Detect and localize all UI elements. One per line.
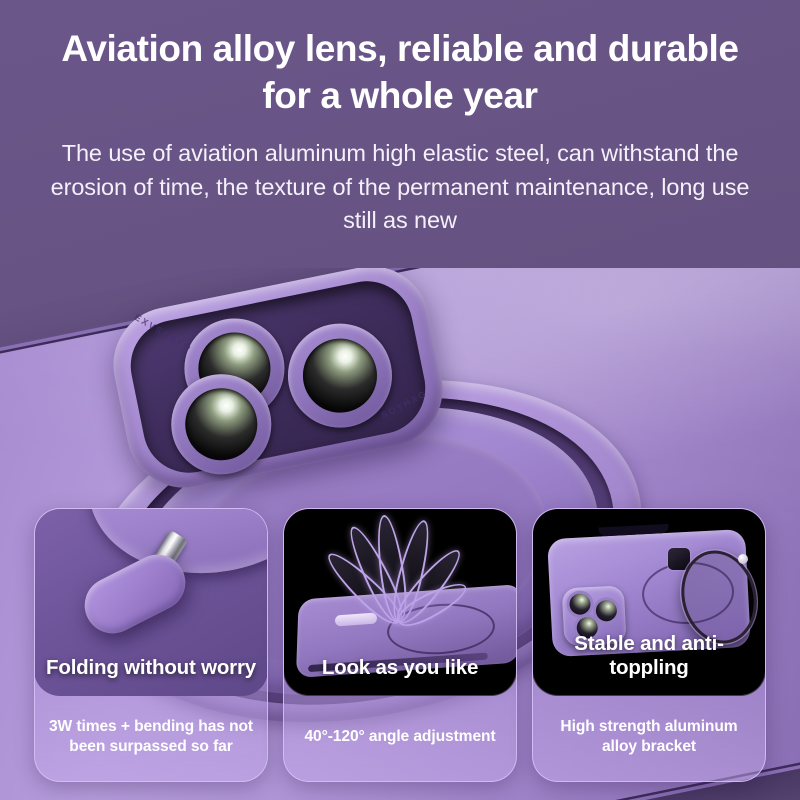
card-caption: 40°-120° angle adjustment [284,696,516,781]
page-title: Aviation alloy lens, reliable and durabl… [0,0,800,120]
page-subtitle: The use of aviation aluminum high elasti… [0,120,800,238]
feature-card-folding[interactable]: Folding without worry 3W times + bending… [34,508,268,782]
card-caption: 3W times + bending has not been surpasse… [35,696,267,781]
camera-lens-icon [595,600,617,622]
phone-top-edge [599,524,669,537]
card-title: Folding without worry [34,656,268,680]
promo-banner: Aviation alloy lens, reliable and durabl… [0,0,800,800]
card-media-angle: Look as you like [283,508,517,696]
card-title: Look as you like [283,656,517,680]
card-caption: High strength aluminum alloy bracket [533,696,765,781]
card-media-folding: Folding without worry [34,508,268,696]
card-title: Stable and anti-toppling [532,632,766,680]
feature-card-stable[interactable]: Stable and anti-toppling High strength a… [532,508,766,782]
card-media-stable: Stable and anti-toppling [532,508,766,696]
feature-card-angle[interactable]: Look as you like 40°-120° angle adjustme… [283,508,517,782]
header-section: Aviation alloy lens, reliable and durabl… [0,0,800,288]
bracket-highlight-dot [738,554,748,564]
feature-card-row: Folding without worry 3W times + bending… [0,508,800,792]
camera-lens-icon [569,593,591,615]
